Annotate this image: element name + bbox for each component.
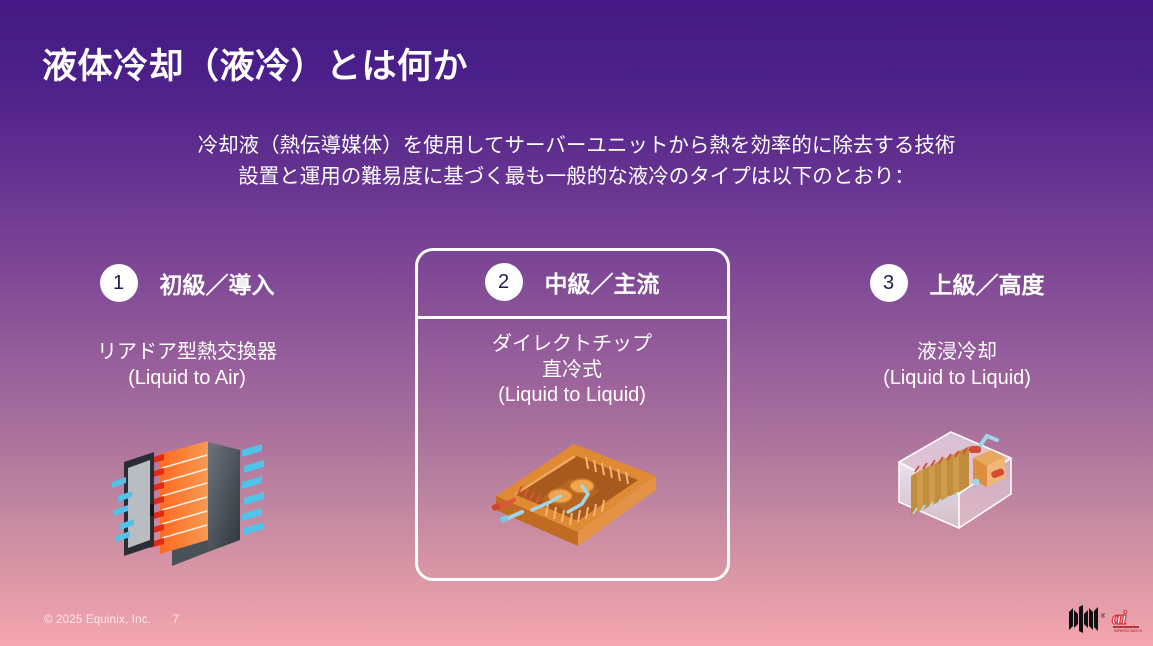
- column-1-header: 1 初級／導入: [22, 248, 352, 318]
- column-1-name-line-1: リアドア型熱交換器: [22, 340, 352, 366]
- column-tier-3: 3 上級／高度 液浸冷却 (Liquid to Liquid): [792, 248, 1122, 588]
- column-3-name-line-2: (Liquid to Liquid): [792, 366, 1122, 392]
- svg-text:®: ®: [1101, 613, 1105, 620]
- badge-number-3: 3: [870, 264, 908, 302]
- column-2-name-line-1: ダイレクトチップ: [412, 332, 732, 358]
- column-2-name-line-3: (Liquid to Liquid): [412, 383, 732, 409]
- subtitle: 冷却液（熱伝導媒体）を使用してサーバーユニットから熱を効率的に除去する技術 設置…: [0, 130, 1153, 192]
- svg-text:ai: ai: [1112, 608, 1128, 629]
- badge-number-1: 1: [100, 264, 138, 302]
- column-2-name-line-2: 直冷式: [412, 358, 732, 384]
- copyright-text: © 2025 Equinix, Inc.: [44, 614, 151, 626]
- slide-canvas: 液体冷却（液冷）とは何か 冷却液（熱伝導媒体）を使用してサーバーユニットから熱を…: [0, 0, 1153, 646]
- column-3-name-line-1: 液浸冷却: [792, 340, 1122, 366]
- column-1-level: 初級／導入: [160, 266, 275, 300]
- column-3-level: 上級／高度: [930, 266, 1045, 300]
- subtitle-line-1: 冷却液（熱伝導媒体）を使用してサーバーユニットから熱を効率的に除去する技術: [0, 130, 1153, 161]
- direct-to-chip-cold-plate-illustration: [488, 424, 663, 546]
- equinix-logo: ®: [1063, 604, 1105, 634]
- column-3-header: 3 上級／高度: [792, 248, 1122, 318]
- rear-door-heat-exchanger-illustration: [112, 424, 267, 569]
- page-number: 7: [173, 614, 180, 626]
- column-1-name-line-2: (Liquid to Air): [22, 366, 352, 392]
- column-2-level: 中級／主流: [545, 265, 660, 299]
- highlight-card-divider: [415, 316, 730, 319]
- column-1-name: リアドア型熱交換器 (Liquid to Air): [22, 340, 352, 391]
- immersion-cooling-tank-illustration: [893, 424, 1018, 534]
- ai-logo: ai IMPRESS WATCH: [1111, 605, 1143, 633]
- subtitle-line-2: 設置と運用の難易度に基づく最も一般的な液冷のタイプは以下のとおり：: [0, 161, 1153, 192]
- badge-number-2: 2: [485, 263, 523, 301]
- page-title: 液体冷却（液冷）とは何か: [42, 38, 468, 89]
- svg-text:IMPRESS WATCH: IMPRESS WATCH: [1114, 629, 1143, 633]
- column-3-name: 液浸冷却 (Liquid to Liquid): [792, 340, 1122, 391]
- column-2-header: 2 中級／主流: [412, 248, 732, 316]
- column-2-name: ダイレクトチップ 直冷式 (Liquid to Liquid): [412, 332, 732, 409]
- footer-copyright: © 2025 Equinix, Inc. 7: [44, 614, 179, 626]
- footer-logos: ® ai IMPRESS WATCH: [1063, 604, 1143, 634]
